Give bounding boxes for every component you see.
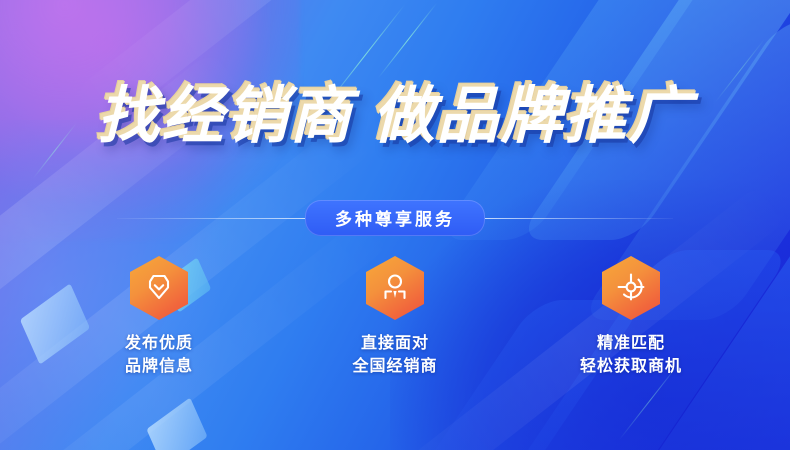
user-business-icon (366, 256, 424, 320)
feature-label-1-line1: 发布优质 (84, 332, 234, 355)
sparkle-line-2 (378, 3, 437, 78)
promo-banner: 找经销商 做品牌推广 多种尊享服务 发布优质 品牌信息 (0, 0, 790, 450)
divider-line-right (483, 218, 673, 219)
shield-check-icon (130, 256, 188, 320)
feature-label-3-line2: 轻松获取商机 (556, 355, 706, 378)
feature-item-1: 发布优质 品牌信息 (84, 256, 234, 378)
divider-line-left (117, 218, 307, 219)
banner-headline: 找经销商 做品牌推广 (97, 86, 692, 148)
feature-label-3-line1: 精准匹配 (556, 332, 706, 355)
subtitle-container: 多种尊享服务 (0, 203, 790, 233)
feature-item-3: 精准匹配 轻松获取商机 (556, 256, 706, 378)
subtitle-pill: 多种尊享服务 (305, 200, 485, 236)
feature-item-2: 直接面对 全国经销商 (320, 256, 470, 378)
feature-label-2-line1: 直接面对 (320, 332, 470, 355)
headline-container: 找经销商 做品牌推广 (0, 86, 790, 148)
feature-label-1-line2: 品牌信息 (84, 355, 234, 378)
feature-list: 发布优质 品牌信息 直接面对 全国经销商 (0, 256, 790, 378)
target-crosshair-icon (602, 256, 660, 320)
feature-label-2-line2: 全国经销商 (320, 355, 470, 378)
rhombus-chip-2 (146, 398, 207, 450)
